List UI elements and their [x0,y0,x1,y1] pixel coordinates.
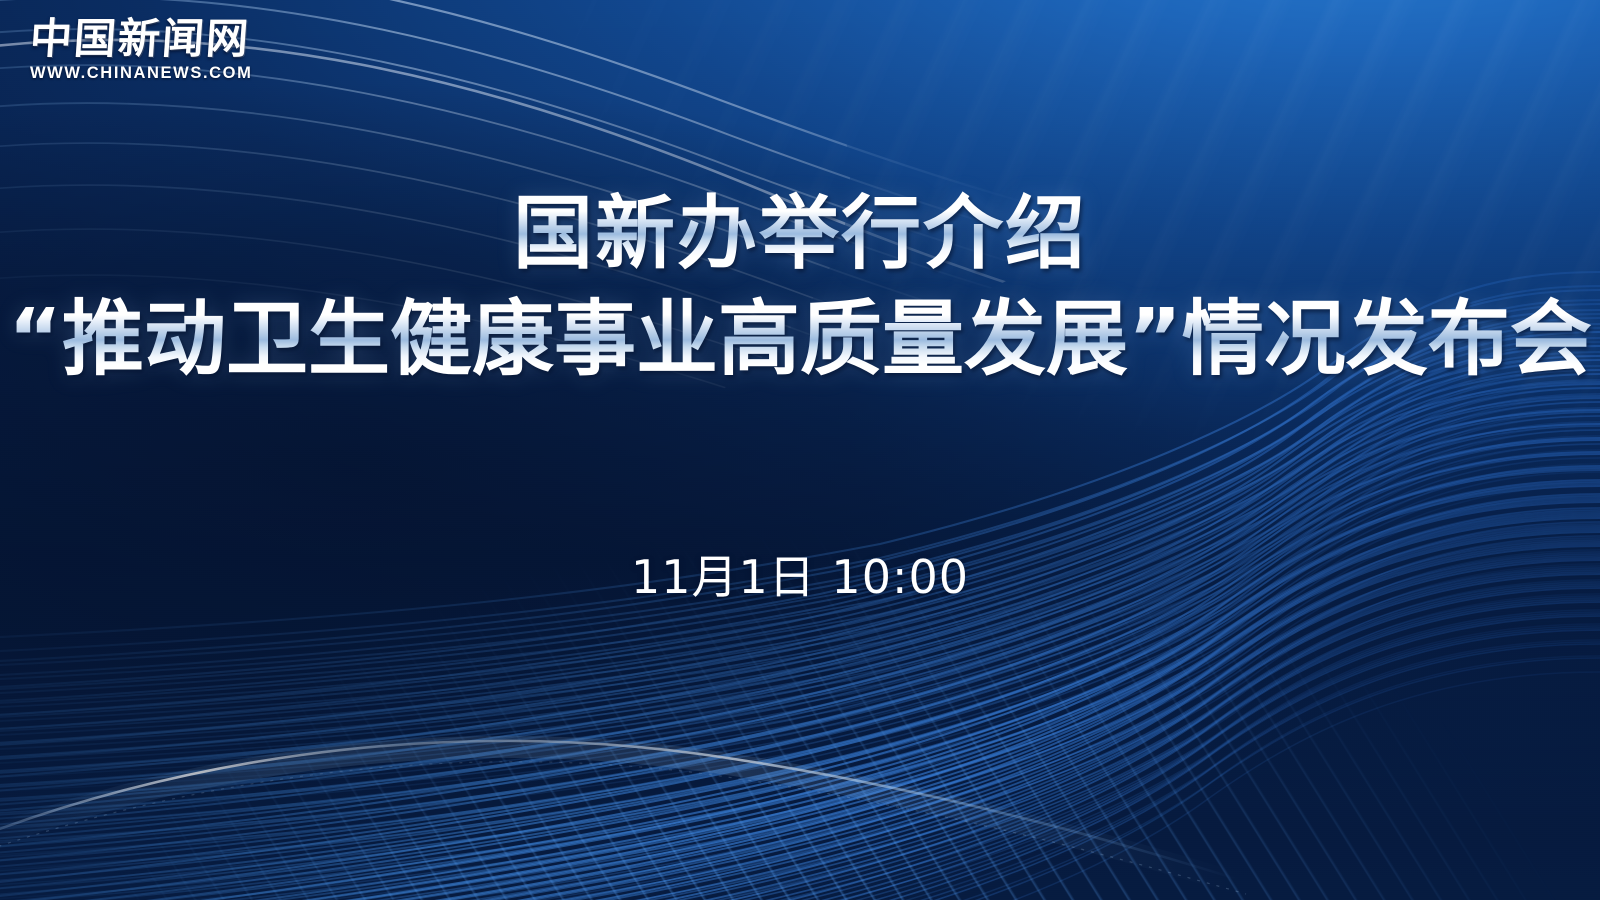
striped-wave-field-graphic [0,0,1600,900]
background-gradient [0,0,1600,900]
chinanews-logo-chinese-text: 中国新闻网 [29,18,254,61]
background-grain-texture [0,0,1600,900]
title-line-2: “推动卫生健康事业高质量发展”情况发布会 [0,288,1600,392]
chinanews-logo[interactable]: 中国新闻网 WWW.CHINANEWS.COM [30,18,252,81]
background-vignette [0,0,1600,900]
chinanews-logo-url-text: WWW.CHINANEWS.COM [30,65,252,82]
glowing-arc-graphic [0,0,1600,900]
light-rays-graphic [0,0,1600,900]
press-conference-poster: 中国新闻网 WWW.CHINANEWS.COM 国新办举行介绍 “推动卫生健康事… [0,0,1600,900]
page-title: 国新办举行介绍 “推动卫生健康事业高质量发展”情况发布会 [0,186,1600,392]
schedule-datetime: 11月1日 10:00 [0,548,1600,606]
title-line-1: 国新办举行介绍 [0,186,1600,282]
flowing-ribbons-graphic [0,0,1600,900]
diagonal-line-bundle-graphic [0,0,1600,900]
